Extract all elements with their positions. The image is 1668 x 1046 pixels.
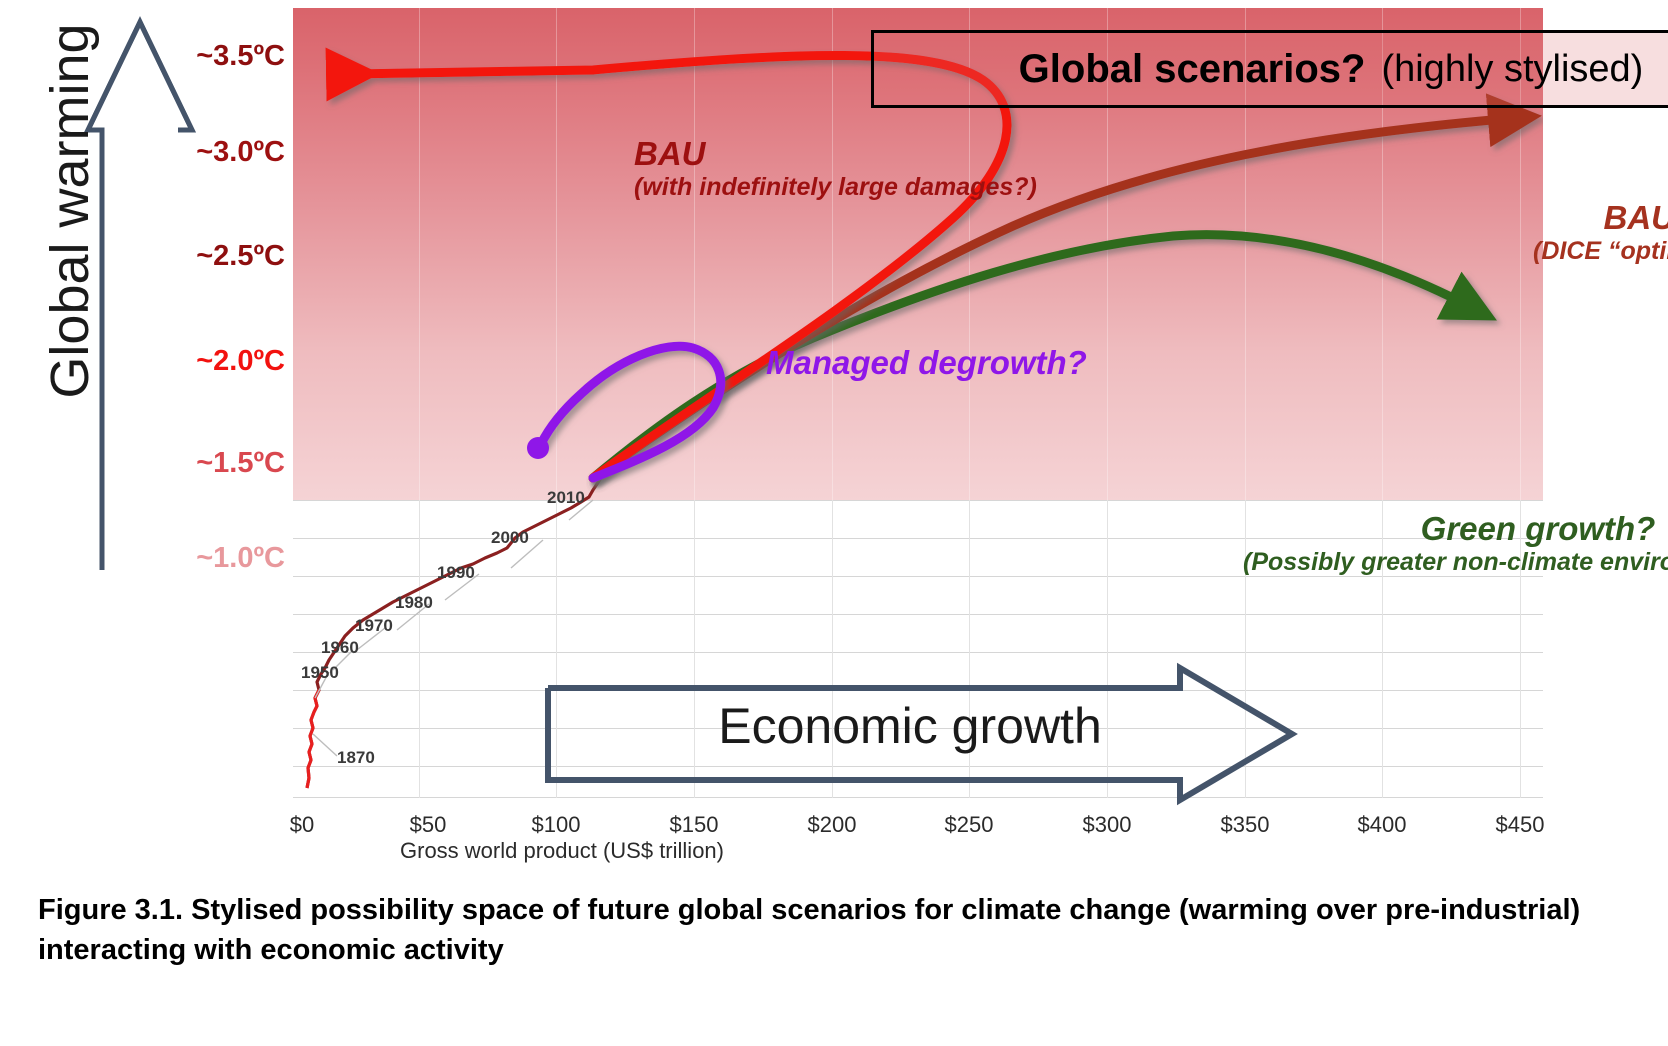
y-tick-3_5: ~3.5ºC	[165, 40, 285, 73]
label-bau-damages-line1: BAU	[634, 136, 1037, 173]
label-green-growth-line1: Green growth?	[1243, 511, 1668, 548]
y-tick-2_5: ~2.5ºC	[165, 240, 285, 273]
label-bau-damages-line2: (with indefinitely large damages?)	[634, 173, 1037, 201]
y-tick-1_0: ~1.0ºC	[165, 542, 285, 575]
x-axis-subtitle: Gross world product (US$ trillion)	[400, 838, 724, 864]
x-tick-350: $350	[1221, 812, 1270, 838]
label-green-growth-line2: (Possibly greater non-climate environmen…	[1243, 548, 1668, 576]
figure-panel: Global warming ~3.5ºC ~3.0ºC ~2.5ºC ~2.0…	[0, 0, 1668, 880]
y-axis-title: Global warming	[39, 0, 101, 431]
year-label-1970: 1970	[355, 616, 393, 636]
label-bau-dice-line2: (DICE “optimal”?)	[1533, 237, 1668, 265]
label-managed-degrowth: Managed degrowth?	[766, 345, 1087, 382]
x-tick-250: $250	[945, 812, 994, 838]
figure-caption: Figure 3.1. Stylised possibility space o…	[38, 890, 1638, 970]
label-green-growth: Green growth? (Possibly greater non-clim…	[1243, 511, 1668, 576]
x-tick-100: $100	[532, 812, 581, 838]
y-tick-2_0: ~2.0ºC	[165, 345, 285, 378]
x-tick-300: $300	[1083, 812, 1132, 838]
x-tick-0: $0	[290, 812, 314, 838]
historical-warming-line-early	[307, 690, 319, 788]
year-label-1980: 1980	[395, 593, 433, 613]
x-tick-450: $450	[1496, 812, 1545, 838]
chart-title-main: Global scenarios?	[1019, 47, 1366, 92]
managed-degrowth-endpoint-dot	[527, 437, 549, 459]
year-label-2010: 2010	[547, 488, 585, 508]
x-tick-50: $50	[410, 812, 447, 838]
chart-title-box: Global scenarios? (highly stylised)	[871, 30, 1668, 108]
year-label-1950: 1950	[301, 663, 339, 683]
x-tick-400: $400	[1358, 812, 1407, 838]
y-axis-tick-labels: ~3.5ºC ~3.0ºC ~2.5ºC ~2.0ºC ~1.5ºC ~1.0º…	[160, 0, 285, 600]
y-tick-1_5: ~1.5ºC	[165, 447, 285, 480]
year-label-1990: 1990	[437, 563, 475, 583]
label-bau-damages: BAU (with indefinitely large damages?)	[634, 136, 1037, 201]
x-axis-title-arrow: Economic growth	[560, 697, 1260, 755]
year-label-2000: 2000	[491, 528, 529, 548]
bau-damages-curve	[353, 55, 1007, 478]
label-bau-dice-line1: BAU	[1533, 200, 1668, 237]
chart-title-qualifier: (highly stylised)	[1381, 48, 1643, 91]
x-tick-150: $150	[670, 812, 719, 838]
x-tick-200: $200	[808, 812, 857, 838]
y-tick-3_0: ~3.0ºC	[165, 136, 285, 169]
year-label-1870: 1870	[337, 748, 375, 768]
year-label-1960: 1960	[321, 638, 359, 658]
label-bau-dice: BAU (DICE “optimal”?)	[1533, 200, 1668, 265]
